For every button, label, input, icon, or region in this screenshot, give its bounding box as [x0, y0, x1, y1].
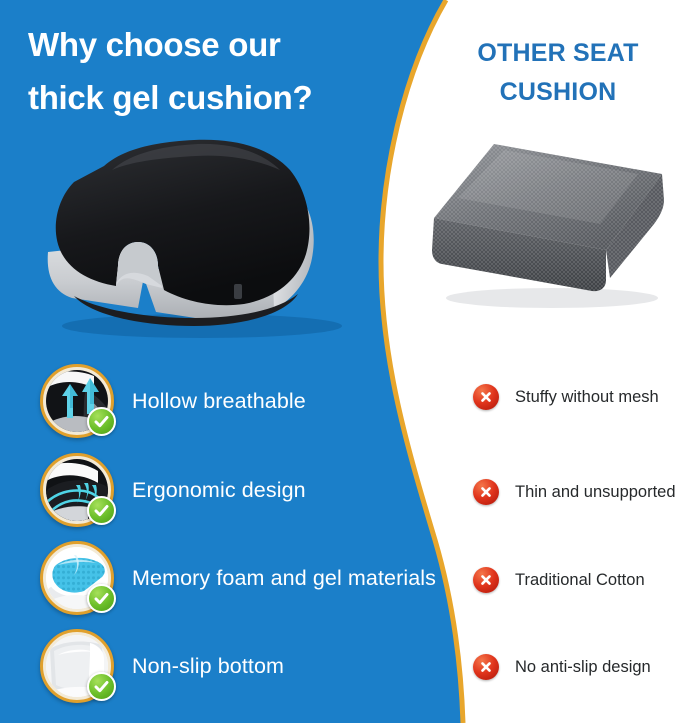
feature-row-ergonomic-design: Ergonomic design — [40, 453, 306, 527]
drawback-row-stuffy: Stuffy without mesh — [473, 384, 659, 410]
feature-row-memory-foam-gel: Memory foam and gel materials — [40, 541, 436, 615]
green-check-icon — [87, 672, 116, 701]
left-headline-line1: Why choose our — [28, 26, 281, 63]
green-check-icon — [87, 496, 116, 525]
feature-label: Non-slip bottom — [132, 654, 284, 679]
right-headline-line2: CUSHION — [440, 73, 676, 112]
left-headline: Why choose our thick gel cushion? — [28, 18, 388, 125]
drawback-label: Thin and unsupported — [515, 483, 676, 502]
left-headline-line2: thick gel cushion? — [28, 71, 388, 124]
feature-row-hollow-breathable: Hollow breathable — [40, 364, 306, 438]
honeycomb-gel-icon — [40, 541, 114, 615]
drawback-label: Traditional Cotton — [515, 571, 645, 590]
feature-row-non-slip-bottom: Non-slip bottom — [40, 629, 284, 703]
drawback-row-no-antislip: No anti-slip design — [473, 654, 651, 680]
right-headline: OTHER SEAT CUSHION — [440, 34, 676, 112]
nonslip-base-icon — [40, 629, 114, 703]
gel-cushion-product-image — [26, 126, 366, 341]
feature-label: Ergonomic design — [132, 478, 306, 503]
comparison-infographic: Why choose our thick gel cushion? OTHER … — [0, 0, 679, 723]
contour-curve-icon — [40, 453, 114, 527]
red-cross-icon — [473, 384, 499, 410]
other-cushion-shadow — [446, 288, 658, 308]
other-cushion-product-image — [424, 128, 672, 318]
airflow-arrows-icon — [40, 364, 114, 438]
right-headline-line1: OTHER SEAT — [477, 39, 638, 67]
green-check-icon — [87, 407, 116, 436]
drawback-label: No anti-slip design — [515, 658, 651, 677]
fabric-tag — [234, 284, 242, 299]
drawback-row-cotton: Traditional Cotton — [473, 567, 645, 593]
drawback-row-thin: Thin and unsupported — [473, 479, 676, 505]
feature-label: Memory foam and gel materials — [132, 566, 436, 591]
green-check-icon — [87, 584, 116, 613]
drawback-label: Stuffy without mesh — [515, 388, 659, 407]
red-cross-icon — [473, 654, 499, 680]
red-cross-icon — [473, 567, 499, 593]
feature-label: Hollow breathable — [132, 389, 306, 414]
red-cross-icon — [473, 479, 499, 505]
